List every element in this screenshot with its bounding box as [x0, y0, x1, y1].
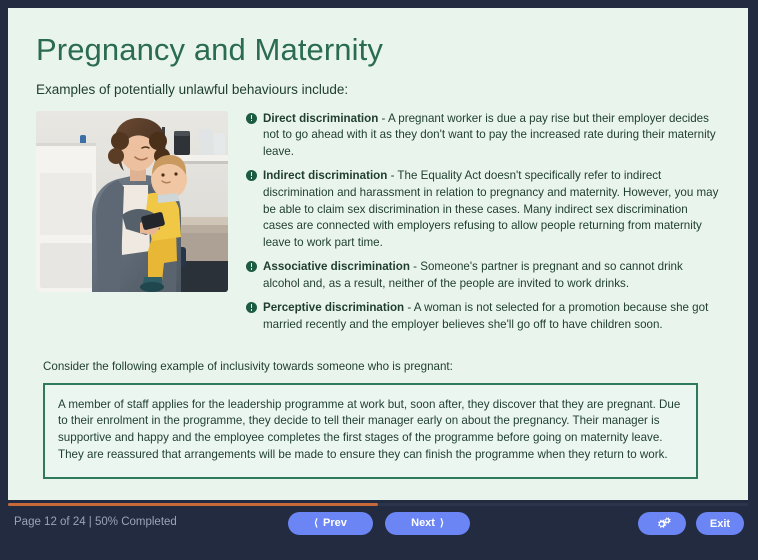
exit-button-label: Exit — [710, 518, 730, 530]
progress-bar-fill — [8, 503, 378, 506]
next-button-label: Next — [411, 518, 435, 529]
consider-line: Consider the following example of inclus… — [43, 360, 720, 373]
settings-button[interactable] — [638, 512, 686, 535]
list-item: Perceptive discrimination - A woman is n… — [246, 300, 720, 333]
exit-button[interactable]: Exit — [696, 512, 744, 535]
info-circle-icon — [246, 113, 257, 124]
chevron-right-icon: ⟩ — [440, 519, 444, 529]
chevron-left-icon: ⟨ — [314, 519, 318, 529]
scenario-example-box: A member of staff applies for the leader… — [43, 383, 698, 479]
next-button[interactable]: Next ⟩ — [385, 512, 470, 535]
list-item: Direct discrimination - A pregnant worke… — [246, 111, 720, 161]
list-item: Associative discrimination - Someone's p… — [246, 259, 720, 292]
gears-icon — [654, 517, 671, 531]
navigation-buttons: ⟨ Prev Next ⟩ — [288, 512, 470, 535]
info-circle-icon — [246, 170, 257, 181]
page-status-text: Page 12 of 24 | 50% Completed — [14, 516, 177, 528]
info-circle-icon — [246, 302, 257, 313]
bullet-term: Associative discrimination — [263, 260, 410, 273]
bullet-term: Indirect discrimination — [263, 169, 387, 182]
prev-button[interactable]: ⟨ Prev — [288, 512, 373, 535]
footer-right-buttons: Exit — [638, 512, 744, 535]
unlawful-behaviours-list: Direct discrimination - A pregnant worke… — [246, 111, 720, 334]
slide-inner: Pregnancy and Maternity Examples of pote… — [8, 8, 748, 479]
photo-and-bullets-row: Direct discrimination - A pregnant worke… — [36, 111, 720, 334]
list-item: Indirect discrimination - The Equality A… — [246, 168, 720, 251]
slide-content-area: Pregnancy and Maternity Examples of pote… — [8, 8, 748, 500]
page-title: Pregnancy and Maternity — [36, 32, 720, 68]
progress-bar-track — [8, 503, 748, 506]
bullet-term: Perceptive discrimination — [263, 301, 404, 314]
course-player-frame: Pregnancy and Maternity Examples of pote… — [0, 0, 758, 560]
player-footer: Page 12 of 24 | 50% Completed ⟨ Prev Nex… — [0, 500, 758, 560]
lesson-photo — [36, 111, 228, 292]
bullet-term: Direct discrimination — [263, 112, 378, 125]
info-circle-icon — [246, 261, 257, 272]
prev-button-label: Prev — [323, 518, 347, 529]
intro-line: Examples of potentially unlawful behavio… — [36, 82, 720, 97]
